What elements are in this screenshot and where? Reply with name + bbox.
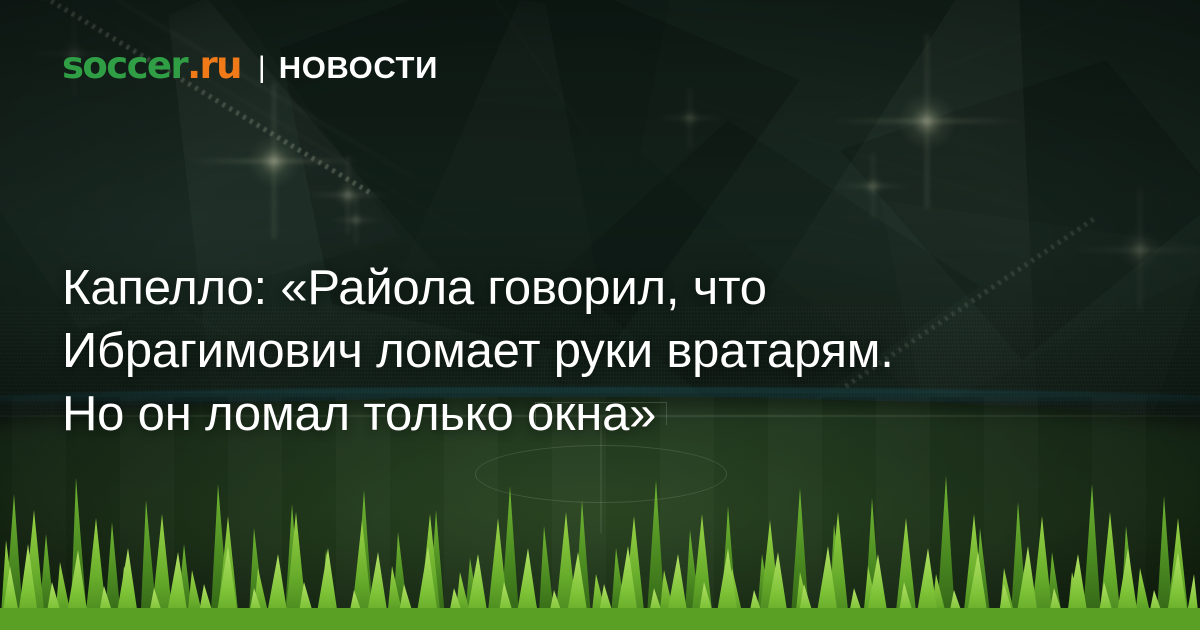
news-share-card: soccer .ru | НОВОСТИ Капелло: «Райола го… <box>0 0 1200 630</box>
site-logo[interactable]: soccer .ru | НОВОСТИ <box>62 47 438 84</box>
logo-separator: | <box>258 53 266 83</box>
logo-name-tld: .ru <box>187 47 241 84</box>
section-label: НОВОСТИ <box>279 52 438 83</box>
headline-line-3: Но он ломал только окна» <box>62 383 992 446</box>
page-title: Капелло: «Райола говорил, что Ибрагимови… <box>62 257 992 446</box>
logo-name-primary: soccer <box>62 47 187 84</box>
foreground-grass <box>0 470 1200 630</box>
headline-line-1: Капелло: «Райола говорил, что <box>62 257 992 320</box>
headline-line-2: Ибрагимович ломает руки вратарям. <box>62 320 992 383</box>
